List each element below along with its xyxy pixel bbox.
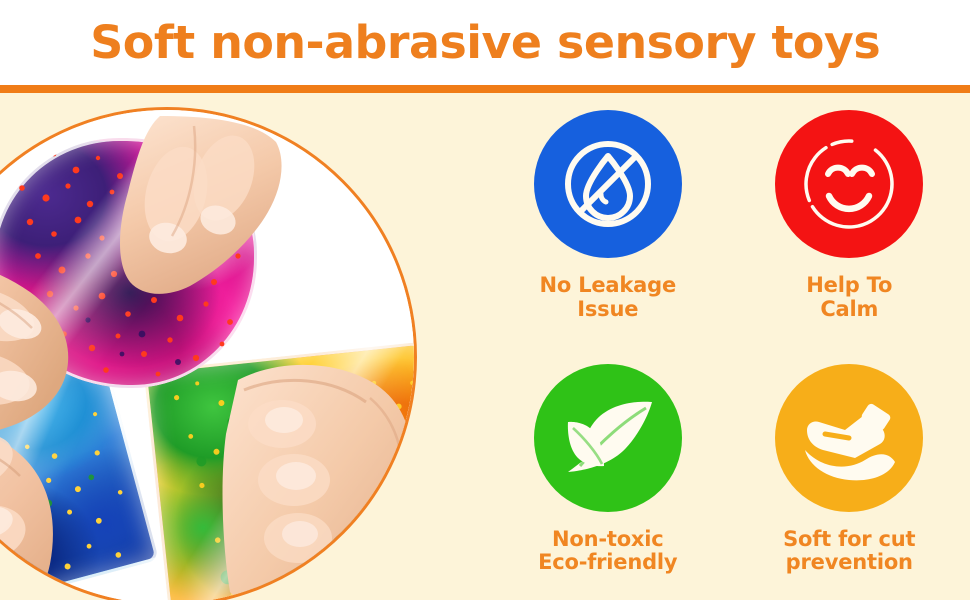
product-photo-collage	[0, 110, 414, 600]
feature-help-to-calm[interactable]: Help To Calm	[729, 93, 970, 347]
non-toxic-badge	[534, 364, 682, 512]
leaf-eco-icon	[556, 386, 660, 490]
open-hand-care-icon	[797, 386, 901, 490]
soft-cut-prevention-badge	[775, 364, 923, 512]
no-water-leak-icon	[556, 132, 660, 236]
product-photo-circle-frame	[0, 107, 417, 600]
page-title: Soft non-abrasive sensory toys	[90, 20, 880, 65]
feature-label: No Leakage Issue	[539, 274, 676, 321]
feature-grid: No Leakage Issue Help To Calm	[487, 93, 970, 600]
feature-soft-cut-prevention[interactable]: Soft for cut prevention	[729, 347, 970, 600]
pink-glitter-gel-pad	[0, 138, 257, 388]
feature-non-toxic[interactable]: Non-toxic Eco-friendly	[487, 347, 729, 600]
feature-no-leakage[interactable]: No Leakage Issue	[487, 93, 729, 347]
smiley-face-icon	[795, 130, 903, 238]
feature-label: Soft for cut prevention	[783, 528, 915, 575]
no-leakage-badge	[534, 110, 682, 258]
header-divider-rule	[0, 85, 970, 93]
header-banner: Soft non-abrasive sensory toys	[0, 0, 970, 85]
content-stage: No Leakage Issue Help To Calm	[0, 93, 970, 600]
yellow-orange-glitter-gel-pad	[144, 341, 417, 600]
help-to-calm-badge	[775, 110, 923, 258]
feature-label: Help To Calm	[806, 274, 892, 321]
feature-label: Non-toxic Eco-friendly	[538, 528, 677, 575]
